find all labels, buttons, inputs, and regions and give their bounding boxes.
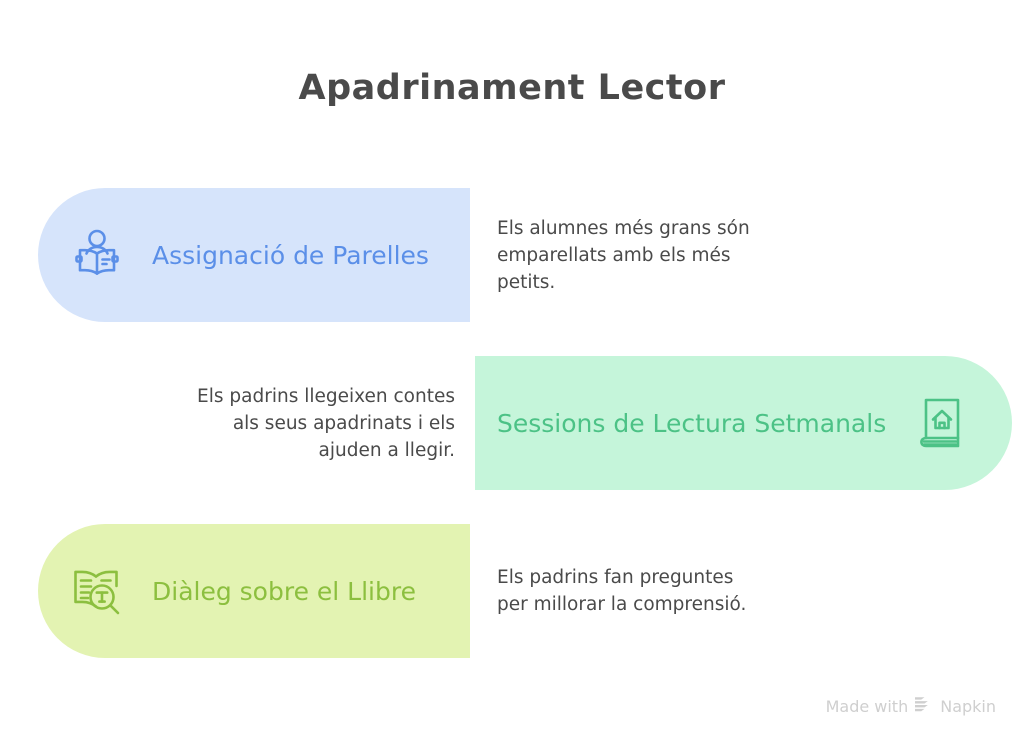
diagram-row-sessions-de-lectura-setmanals: Els padrins llegeixen contes als seus ap…: [0, 356, 1024, 490]
description-line: Els padrins fan preguntes: [497, 564, 827, 591]
description-line: Els alumnes més grans són: [497, 215, 827, 242]
diagram-row-dialeg-sobre-el-llibre: Diàleg sobre el Llibre Els padrins fan p…: [0, 524, 1024, 658]
description-line: petits.: [497, 269, 827, 296]
page-title: Apadrinament Lector: [0, 68, 1024, 108]
bar-label-dialeg-sobre-el-llibre: Diàleg sobre el Llibre: [152, 577, 416, 606]
book-magnifier-text-icon: [68, 562, 126, 620]
description-dialeg-sobre-el-llibre: Els padrins fan preguntes per millorar l…: [497, 524, 827, 658]
description-line: Els padrins llegeixen contes: [150, 383, 455, 410]
bar-sessions-de-lectura-setmanals[interactable]: Sessions de Lectura Setmanals: [475, 356, 1012, 490]
diagram-canvas: Apadrinament Lector Assignació de Parell…: [0, 0, 1024, 744]
watermark-brand: Napkin: [940, 697, 996, 716]
description-line: emparellats amb els més: [497, 242, 827, 269]
napkin-watermark: Made with Napkin: [826, 696, 996, 716]
bar-dialeg-sobre-el-llibre[interactable]: Diàleg sobre el Llibre: [38, 524, 470, 658]
description-sessions-de-lectura-setmanals: Els padrins llegeixen contes als seus ap…: [150, 356, 455, 490]
diagram-row-assignacio-de-parelles: Assignació de Parelles Els alumnes més g…: [0, 188, 1024, 322]
bar-assignacio-de-parelles[interactable]: Assignació de Parelles: [38, 188, 470, 322]
watermark-prefix: Made with: [826, 697, 909, 716]
bar-label-assignacio-de-parelles: Assignació de Parelles: [152, 241, 429, 270]
bar-label-sessions-de-lectura-setmanals: Sessions de Lectura Setmanals: [497, 409, 886, 438]
description-line: per millorar la comprensió.: [497, 591, 827, 618]
description-line: ajuden a llegir.: [150, 437, 455, 464]
description-line: als seus apadrinats i els: [150, 410, 455, 437]
description-assignacio-de-parelles: Els alumnes més grans són emparellats am…: [497, 188, 827, 322]
person-reading-book-icon: [68, 226, 126, 284]
napkin-logo-icon: [915, 696, 933, 716]
book-house-icon: [912, 394, 970, 452]
